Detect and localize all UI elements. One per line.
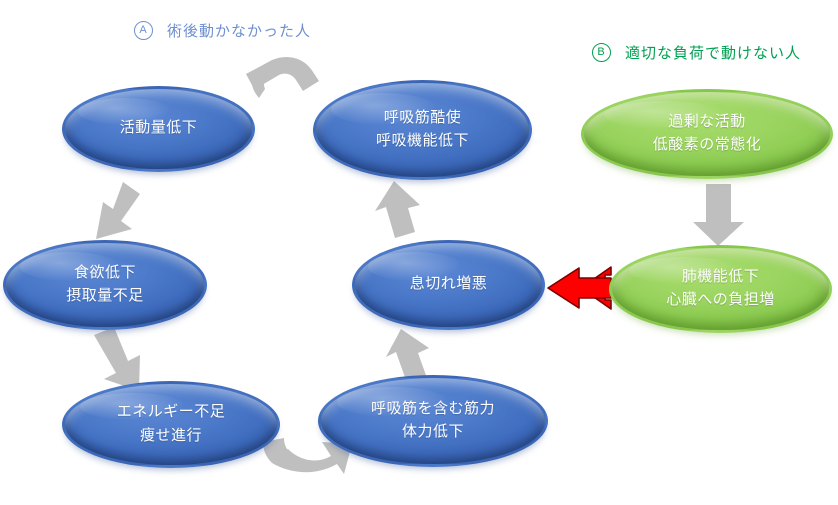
node-breathlessness-worsening[interactable]: 息切れ増悪 xyxy=(352,240,545,330)
node-excessive-activity[interactable]: 過剰な活動 低酸素の常態化 xyxy=(581,89,833,179)
node-lung-function-decline-line-2: 心臓への負担増 xyxy=(666,289,775,312)
node-respiratory-muscle-overuse-line-2: 呼吸機能低下 xyxy=(376,130,469,153)
node-appetite-loss[interactable]: 食欲低下 摂取量不足 xyxy=(3,240,207,330)
node-muscle-strength-decline[interactable]: 呼吸筋を含む筋力 体力低下 xyxy=(318,375,548,467)
node-lung-function-decline-line-1: 肺機能低下 xyxy=(682,266,760,289)
node-energy-shortage-line-1: エネルギー不足 xyxy=(117,401,226,424)
node-respiratory-muscle-overuse-line-1: 呼吸筋酷使 xyxy=(384,107,462,130)
node-excessive-activity-line-2: 低酸素の常態化 xyxy=(653,134,762,157)
node-breathlessness-worsening-line-1: 息切れ増悪 xyxy=(410,273,488,296)
node-lung-function-decline[interactable]: 肺機能低下 心臓への負担増 xyxy=(609,245,832,333)
node-appetite-loss-line-1: 食欲低下 xyxy=(74,262,136,285)
arrow-excess-to-lung-icon xyxy=(693,184,744,246)
node-energy-shortage-line-2: 痩せ進行 xyxy=(140,425,202,448)
arrow-lung-to-breathless-icon xyxy=(548,267,611,309)
node-energy-shortage[interactable]: エネルギー不足 痩せ進行 xyxy=(62,381,280,468)
arrow-respmuscle-to-activity-icon xyxy=(246,57,319,98)
arrow-breathless-to-respmuscle-icon xyxy=(375,181,420,238)
diagram-canvas: A 術後動かなかった人 B 適切な負荷で動けない人 xyxy=(0,0,838,505)
node-muscle-strength-decline-line-1: 呼吸筋を含む筋力 xyxy=(371,398,495,421)
node-appetite-loss-line-2: 摂取量不足 xyxy=(66,285,144,308)
arrow-appetite-to-energy-icon xyxy=(94,327,140,391)
arrow-activity-to-appetite-icon xyxy=(96,182,140,239)
node-activity-decline[interactable]: 活動量低下 xyxy=(62,86,255,172)
node-respiratory-muscle-overuse[interactable]: 呼吸筋酷使 呼吸機能低下 xyxy=(313,80,532,180)
node-muscle-strength-decline-line-2: 体力低下 xyxy=(402,421,464,444)
node-excessive-activity-line-1: 過剰な活動 xyxy=(668,111,746,134)
node-activity-decline-line-1: 活動量低下 xyxy=(120,117,198,140)
